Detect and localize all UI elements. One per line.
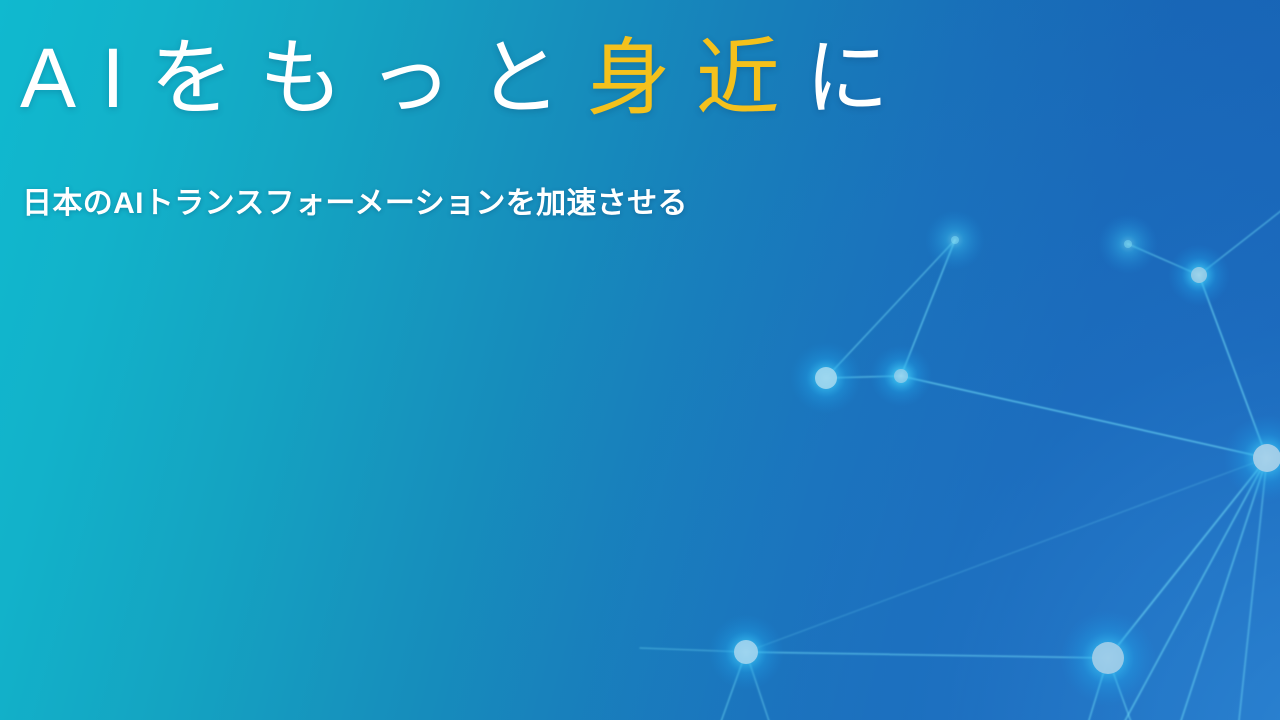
node-glow-n2 xyxy=(790,342,862,414)
edge-n3-n6 xyxy=(901,376,1267,458)
network-node-cores xyxy=(734,236,1280,674)
edge-n7-below-7 xyxy=(1108,658,1134,720)
headline-segment-3: に xyxy=(805,31,914,125)
node-glow-n5 xyxy=(1168,244,1230,306)
page-subtitle: 日本のAIトランスフォーメーションを加速させる xyxy=(22,184,688,223)
edge-n6-below-2 xyxy=(1178,458,1267,720)
node-core-n7 xyxy=(1092,642,1124,674)
node-core-n2 xyxy=(815,367,837,389)
edge-n8-below-4 xyxy=(718,652,746,720)
edge-n8-offscreen-left xyxy=(640,648,746,652)
headline-segment-1: AIをもっと xyxy=(20,31,587,125)
edge-n7-below-6 xyxy=(1086,658,1108,720)
node-glow-n8 xyxy=(708,614,784,690)
node-core-n6 xyxy=(1253,444,1280,472)
edge-n8-below-5 xyxy=(746,652,772,720)
headline-segment-accent: 身近 xyxy=(587,31,805,125)
edge-far-left-bottom xyxy=(746,458,1267,652)
edge-n5-offscreen-top xyxy=(1199,196,1280,275)
node-core-n1 xyxy=(951,236,959,244)
network-node-glows xyxy=(708,210,1280,706)
network-edges xyxy=(640,196,1280,720)
edge-n4-n5 xyxy=(1128,244,1199,275)
edge-n1-n3 xyxy=(901,240,955,376)
node-core-n3 xyxy=(894,369,908,383)
node-core-n4 xyxy=(1124,240,1132,248)
node-core-n8 xyxy=(734,640,758,664)
edge-n6-below-3 xyxy=(1238,458,1267,720)
edge-n6-below-1 xyxy=(1120,458,1267,720)
hero-banner: AIをもっと身近に 日本のAIトランスフォーメーションを加速させる xyxy=(0,0,1280,720)
edge-n7-n8 xyxy=(746,652,1108,658)
node-glow-n1 xyxy=(925,210,985,270)
node-core-n5 xyxy=(1191,267,1207,283)
edge-n2-n3 xyxy=(826,376,901,378)
node-glow-n3 xyxy=(870,345,932,407)
node-glow-n7 xyxy=(1060,610,1156,706)
edge-n5-n6 xyxy=(1199,275,1267,458)
edge-n1-n2 xyxy=(826,240,955,378)
node-glow-n4 xyxy=(1098,214,1158,274)
node-glow-n6 xyxy=(1223,414,1280,502)
page-title: AIをもっと身近に xyxy=(20,33,914,124)
edge-n6-n7 xyxy=(1108,458,1267,658)
